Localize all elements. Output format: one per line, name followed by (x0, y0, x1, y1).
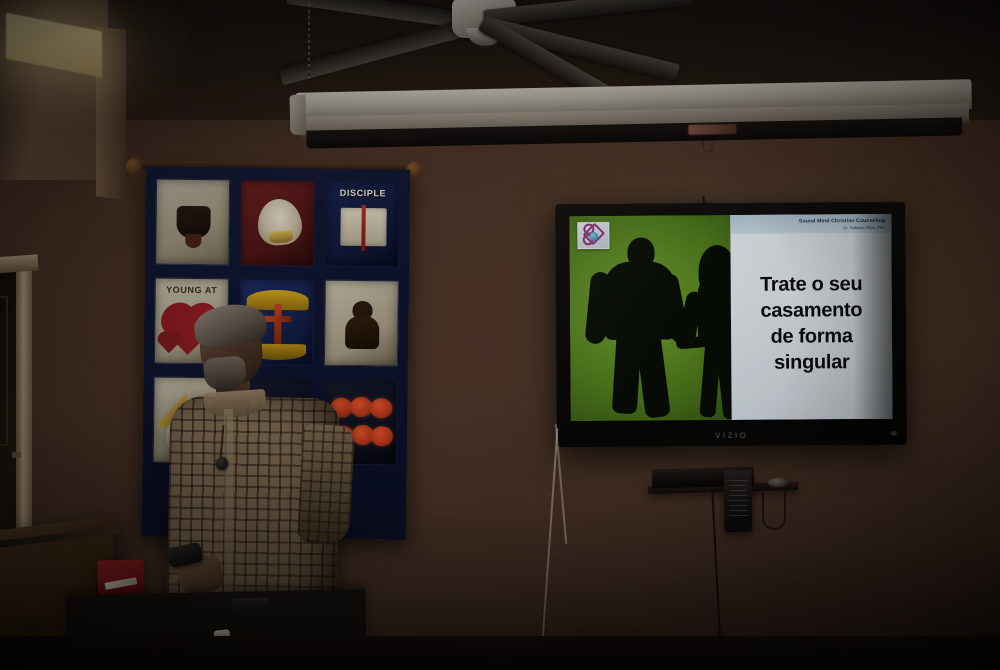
slide-text-panel: Sound Mind Christian Counseling Dr. Robe… (730, 214, 892, 420)
silhouette-man-head (627, 238, 654, 268)
tv-power-led (891, 431, 897, 436)
av-receiver[interactable] (723, 470, 752, 532)
room-photo-scene: DISCIPLE YOUNG AT (0, 0, 1000, 670)
pumpkin-icon (350, 397, 372, 417)
slide-title-line: casamento (760, 297, 862, 324)
door-trim-header (0, 254, 39, 273)
ceiling-fan (270, 0, 740, 90)
receiver-vents (729, 480, 748, 520)
lapel-microphone-icon (216, 457, 228, 470)
couple-silhouette-photo (569, 215, 731, 421)
quilt-panel (240, 180, 315, 267)
tv-brand-label: VIZIO (557, 430, 907, 441)
open-book-icon (340, 208, 386, 247)
slide-title-line: Trate o seu (760, 271, 862, 298)
slide-title-block: Trate o seu casamento de forma singular (730, 233, 892, 420)
rod-finial (126, 158, 142, 175)
table-object (232, 597, 268, 610)
quilt-panel (155, 179, 230, 266)
door-panel (0, 296, 8, 446)
pumpkin-icon (371, 426, 393, 446)
fan-pull-chain[interactable] (308, 4, 310, 82)
quilt-row: DISCIPLE (155, 179, 400, 268)
screen-case-endcap (290, 95, 307, 135)
silhouette-man-leg (635, 328, 671, 418)
doorway[interactable] (0, 256, 42, 556)
silhouette-held-hands (676, 336, 707, 349)
floor (0, 636, 1000, 670)
hanging-cable-loop (762, 490, 786, 530)
slide-title-line: de forma (770, 323, 852, 350)
quilt-panel-label: DISCIPLE (327, 188, 399, 199)
slide-presenter-name: Dr. Roberto Silva, PhD (736, 225, 885, 232)
screen-brand-label (688, 124, 736, 135)
screen-pull-handle[interactable] (703, 140, 713, 152)
quilt-panel-disciple: DISCIPLE (325, 181, 400, 268)
heart-logo-icon (577, 222, 609, 249)
pumpkin-icon (370, 398, 392, 418)
box-label-stripe (105, 577, 138, 590)
remote-puck[interactable] (768, 478, 788, 487)
door-trim-vertical (16, 256, 32, 556)
retractable-projection-screen[interactable] (295, 79, 972, 151)
tv-screen: Sound Mind Christian Counseling Dr. Robe… (569, 214, 892, 421)
slide-title-line: singular (774, 349, 850, 376)
dove-icon (256, 197, 304, 247)
wall-mounted-tv[interactable]: Sound Mind Christian Counseling Dr. Robe… (555, 202, 907, 447)
white-power-cable (540, 428, 559, 670)
quilt-panel-label: YOUNG AT (156, 285, 228, 296)
logo-globe (589, 232, 598, 241)
presenter-sleeve (297, 424, 355, 545)
silhouette-woman-head (703, 249, 727, 275)
dark-symbol-icon (176, 206, 210, 238)
figure-body (345, 316, 379, 349)
door-handle[interactable] (12, 452, 21, 458)
slide-header: Sound Mind Christian Counseling Dr. Robe… (730, 214, 891, 234)
